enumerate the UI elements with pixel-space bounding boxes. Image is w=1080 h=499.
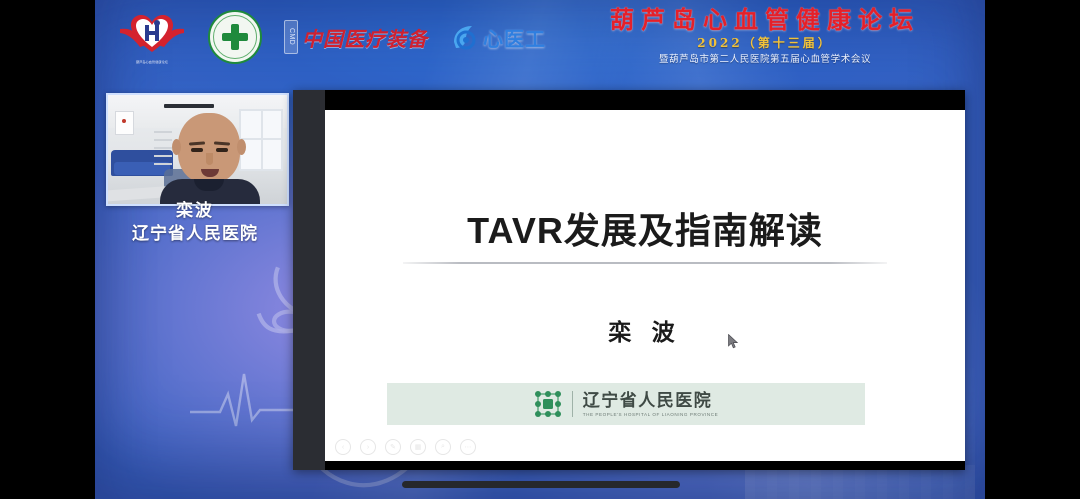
- slide-letterbox-top: [325, 90, 965, 110]
- letterbox-right: [985, 0, 1080, 499]
- presenter-ear-left: [172, 139, 181, 155]
- conference-title-block: 葫芦岛心血管健康论坛 2022（第十三届） 暨葫芦岛市第二人民医院第五届心血管学…: [570, 6, 960, 66]
- presenter-name: 栾波: [95, 200, 295, 222]
- green-cross-icon: [222, 24, 248, 50]
- video-shelf: [154, 131, 172, 165]
- presenter-nose: [206, 153, 213, 165]
- mouse-pointer-icon: [728, 334, 739, 349]
- presenter-eye-left: [191, 148, 203, 152]
- conference-edition: 2022（第十三届）: [570, 35, 960, 51]
- cme-label: 中国医疗装备: [302, 23, 428, 52]
- footer-org-en: THE PEOPLE'S HOSPITAL OF LIAONING PROVIN…: [583, 411, 719, 418]
- footer-divider: [572, 391, 573, 417]
- presenter-eye-right: [216, 148, 228, 152]
- video-window: [239, 109, 283, 171]
- slide-title: TAVR发展及指南解读: [325, 202, 965, 254]
- slide-tool-strip[interactable]: ‹ › ✎ ▦ ⌕ ⋯: [335, 439, 476, 455]
- presenter-organization: 辽宁省人民医院: [95, 222, 295, 245]
- hospital-node-logo-icon: [534, 390, 562, 418]
- letterbox-left: [0, 0, 95, 499]
- video-wall-picture: [115, 111, 134, 135]
- slide-title-rule: [403, 262, 887, 264]
- xin-yi-gong-logo: 心医工: [450, 23, 546, 52]
- slide-footer-band: 辽宁省人民医院 THE PEOPLE'S HOSPITAL OF LIAONIN…: [387, 383, 865, 425]
- screen-capture: 葫芦岛心血管健康论坛 CMD 中国医疗装备 心医工 葫芦岛心血管健康论坛 202…: [0, 0, 1080, 499]
- xin-yi-gong-label: 心医工: [483, 23, 546, 52]
- huludao-cardio-forum-logo: 葫芦岛心血管健康论坛: [118, 11, 186, 63]
- slide-subtitle: 栾 波: [325, 313, 965, 347]
- presenter-caption: 栾波 辽宁省人民医院: [95, 200, 295, 245]
- presenter-ear-right: [237, 139, 246, 155]
- next-slide-icon[interactable]: ›: [360, 439, 376, 455]
- pen-annotation-icon[interactable]: ✎: [385, 439, 401, 455]
- slide-viewer[interactable]: TAVR发展及指南解读 栾 波: [293, 90, 965, 470]
- zoom-slide-icon[interactable]: ⌕: [435, 439, 451, 455]
- video-tv-bar: [164, 104, 214, 108]
- sponsor-logo-row: 葫芦岛心血管健康论坛 CMD 中国医疗装备 心医工: [118, 8, 546, 66]
- more-options-icon[interactable]: ⋯: [460, 439, 476, 455]
- footer-org-zh: 辽宁省人民医院: [583, 391, 719, 410]
- presentation-slide[interactable]: TAVR发展及指南解读 栾 波: [325, 110, 965, 461]
- slide-letterbox-bottom: [325, 461, 965, 470]
- cmd-badge: CMD: [284, 20, 298, 53]
- conference-subtitle: 暨葫芦岛市第二人民医院第五届心血管学术会议: [570, 53, 960, 66]
- slide-overview-icon[interactable]: ▦: [410, 439, 426, 455]
- hospital-green-cross-logo: [208, 10, 262, 64]
- china-medical-equipment-logo: CMD 中国医疗装备: [284, 20, 428, 53]
- presenter-video-feed[interactable]: [106, 93, 289, 206]
- conference-title: 葫芦岛心血管健康论坛: [570, 6, 960, 34]
- previous-slide-icon[interactable]: ‹: [335, 439, 351, 455]
- logo-caption: 葫芦岛心血管健康论坛: [118, 60, 186, 64]
- dolphin-mark-icon: [450, 24, 480, 50]
- home-indicator[interactable]: [402, 481, 680, 488]
